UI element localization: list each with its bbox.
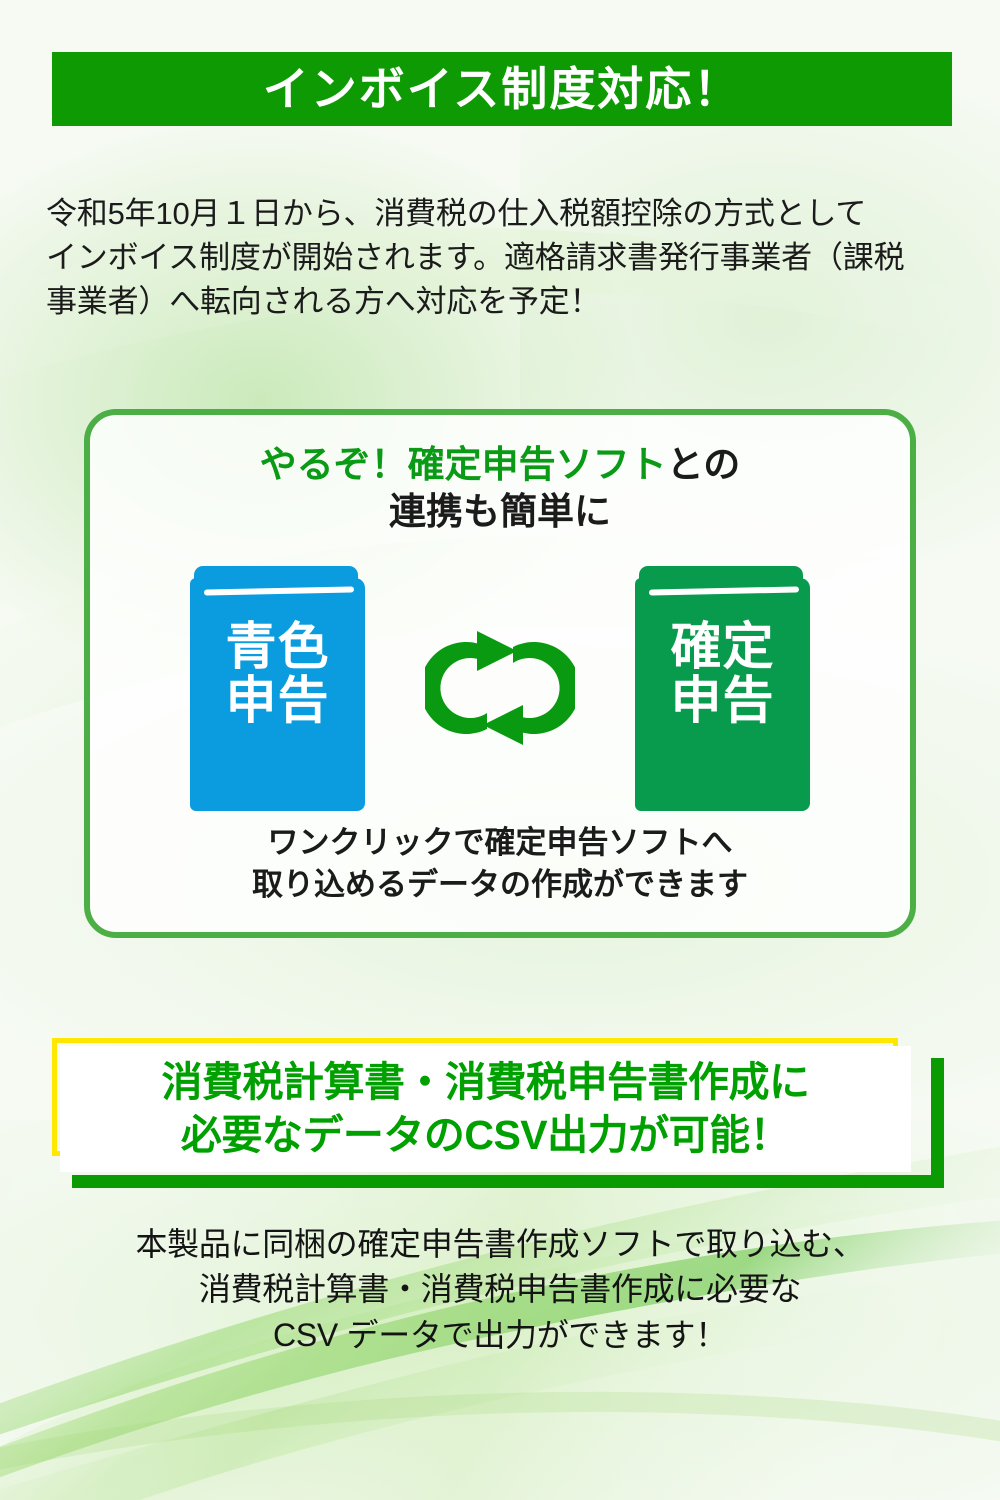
caption-line-1: ワンクリックで確定申告ソフトへ (90, 822, 910, 864)
feature-card: やるぞ！確定申告ソフトとの 連携も簡単に 青色 申告 (84, 409, 916, 938)
heading-tail: との (667, 444, 741, 485)
highlight-banner: 消費税計算書・消費税申告書作成に 必要なデータのCSV出力が可能！ (52, 1038, 944, 1188)
green-book-label-line-2: 申告 (635, 674, 810, 729)
closing-line-3: CSV データで出力ができます！ (0, 1313, 1000, 1358)
caption-line-2: 取り込めるデータの作成ができます (90, 864, 910, 906)
banner-text: 消費税計算書・消費税申告書作成に 必要なデータのCSV出力が可能！ (60, 1046, 911, 1172)
banner-line-2: 必要なデータのCSV出力が可能！ (181, 1109, 790, 1162)
books-row: 青色 申告 確 (90, 563, 910, 813)
intro-line-3: 事業者）へ転向される方へ対応を予定！ (46, 280, 964, 324)
sync-arrows-icon (425, 623, 575, 753)
banner-line-1: 消費税計算書・消費税申告書作成に (162, 1056, 810, 1109)
blue-book-label: 青色 申告 (190, 620, 365, 729)
closing-line-2: 消費税計算書・消費税申告書作成に必要な (0, 1267, 1000, 1312)
closing-line-1: 本製品に同梱の確定申告書作成ソフトで取り込む、 (0, 1222, 1000, 1267)
heading-line-2: 連携も簡単に (90, 488, 910, 535)
promo-page: インボイス制度対応！ 令和5年10月１日から、消費税の仕入税額控除の方式として … (0, 0, 1000, 1500)
closing-paragraph: 本製品に同梱の確定申告書作成ソフトで取り込む、 消費税計算書・消費税申告書作成に… (0, 1222, 1000, 1358)
heading-highlight: やるぞ！確定申告ソフト (260, 444, 667, 485)
intro-line-1: 令和5年10月１日から、消費税の仕入税額控除の方式として (46, 192, 964, 236)
feature-card-caption: ワンクリックで確定申告ソフトへ 取り込めるデータの作成ができます (90, 822, 910, 906)
intro-paragraph: 令和5年10月１日から、消費税の仕入税額控除の方式として インボイス制度が開始さ… (46, 192, 964, 324)
intro-line-2: インボイス制度が開始されます。適格請求書発行事業者（課税 (46, 236, 964, 280)
green-book-label: 確定 申告 (635, 620, 810, 729)
green-book-icon: 確定 申告 (635, 566, 810, 811)
blue-book-icon: 青色 申告 (190, 566, 365, 811)
blue-book-label-line-1: 青色 (190, 620, 365, 675)
header-band: インボイス制度対応！ (52, 52, 952, 126)
feature-card-heading: やるぞ！確定申告ソフトとの 連携も簡単に (90, 441, 910, 536)
blue-book-label-line-2: 申告 (190, 674, 365, 729)
header-title: インボイス制度対応！ (263, 66, 742, 112)
green-book-label-line-1: 確定 (635, 620, 810, 675)
